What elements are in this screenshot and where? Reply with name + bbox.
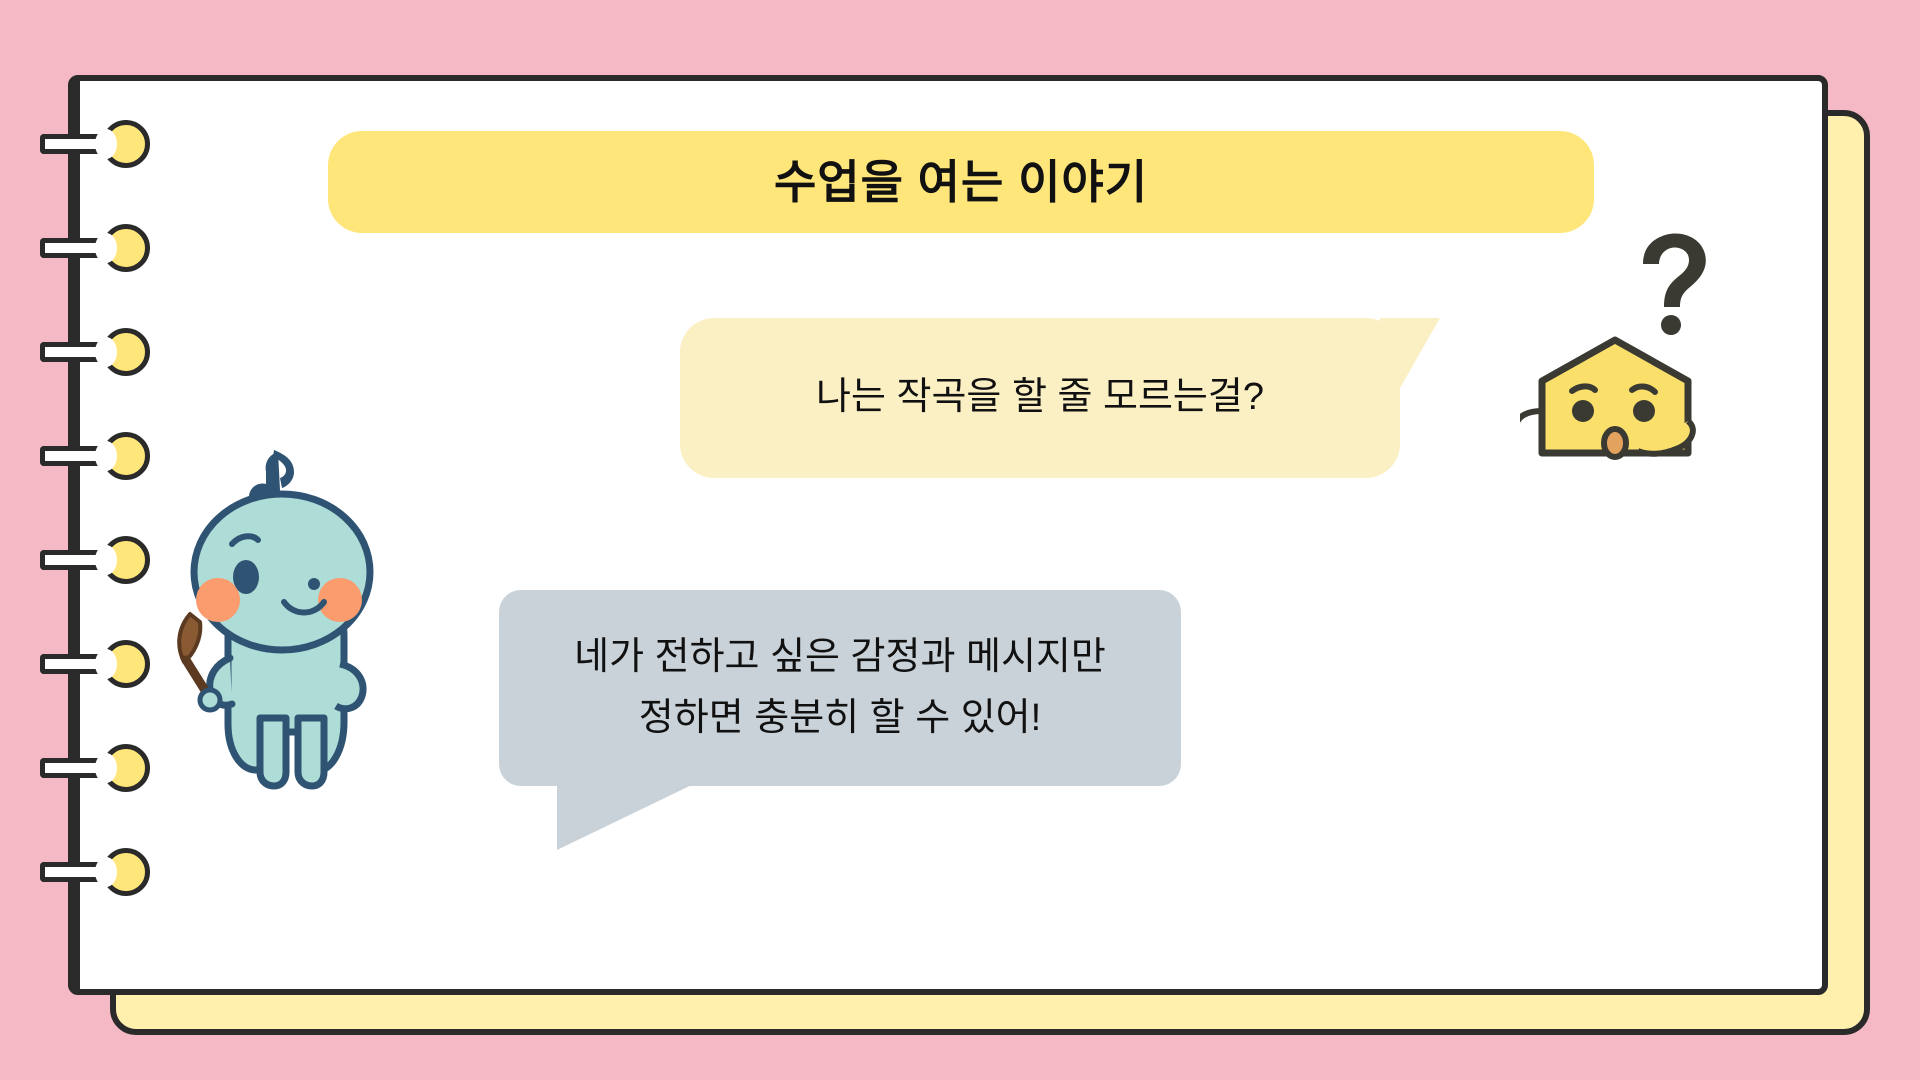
speech-bubble-tail [557,780,702,850]
binding-ring [40,848,160,896]
paint-brush-icon [179,614,220,710]
eye-right [1633,400,1655,422]
ring-knob [102,640,150,688]
binding-ring [40,224,160,272]
answer-speech-bubble: 네가 전하고 싶은 감정과 메시지만 정하면 충분히 할 수 있어! [499,590,1219,860]
answer-bubble-line-2: 정하면 충분히 할 수 있어! [639,688,1041,749]
question-speech-bubble: 나는 작곡을 할 줄 모르는걸? [680,318,1480,453]
page-title: 수업을 여는 이야기 [774,159,1148,205]
title-banner: 수업을 여는 이야기 [328,131,1594,233]
binding-ring [40,536,160,584]
binding-ring [40,744,160,792]
question-mark-icon [1643,233,1706,335]
answer-bubble-text: 네가 전하고 싶은 감정과 메시지만 정하면 충분히 할 수 있어! [499,590,1181,786]
blush-left [196,578,240,622]
answer-bubble-line-1: 네가 전하고 싶은 감정과 메시지만 [574,627,1106,688]
mouth [1604,429,1626,457]
binding-ring [40,640,160,688]
slide-canvas: 수업을 여는 이야기 나는 작곡을 할 줄 모르는걸? 네가 전하고 싶은 감정… [0,0,1920,1080]
binding-ring [40,432,160,480]
spiral-binding [40,120,170,920]
eye-left [1572,400,1594,422]
ring-knob [102,744,150,792]
yellow-character [1520,215,1720,465]
binding-ring [40,328,160,376]
ring-knob [102,536,150,584]
question-bubble-text: 나는 작곡을 할 줄 모르는걸? [680,318,1400,478]
eye-right [308,578,320,590]
ring-knob [102,432,150,480]
ring-knob [102,328,150,376]
ring-knob [102,224,150,272]
teal-character [168,432,398,792]
ring-knob [102,120,150,168]
binding-ring [40,120,160,168]
ring-knob [102,848,150,896]
